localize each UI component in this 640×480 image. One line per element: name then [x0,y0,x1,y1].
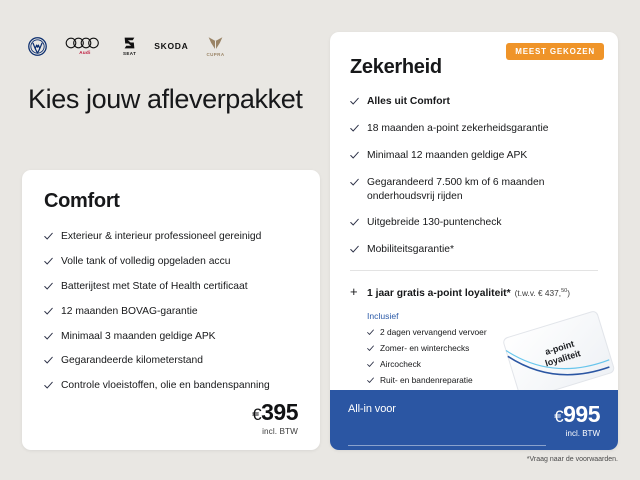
cupra-logo: CUPRA [206,36,224,57]
list-item-label: Alles uit Comfort [367,95,450,109]
audi-logo: Audi [65,37,105,55]
list-item: Mobiliteitsgarantie* [350,243,598,257]
list-item-label: Uitgebreide 130-puntencheck [367,216,502,230]
list-item-label: Batterijtest met State of Health certifi… [61,280,248,294]
bonus-label: 1 jaar gratis a-point loyaliteit* [367,288,511,299]
check-icon [367,377,374,384]
list-item: Gegarandeerd 7.500 km of 6 maanden onder… [350,176,598,204]
check-icon [350,97,359,106]
check-icon [350,218,359,227]
comfort-price: €395 [252,401,298,424]
bonus-row: + 1 jaar gratis a-point loyaliteit*(t.w.… [350,285,598,299]
zekerheid-price: €995 [554,403,600,426]
check-icon [350,124,359,133]
seat-logo-caption: SEAT [123,51,136,56]
check-icon [350,151,359,160]
list-item: Controle vloeistoffen, olie en bandenspa… [44,379,298,393]
list-item-label: 18 maanden a-point zekerheidsgarantie [367,122,548,136]
list-item: Minimaal 12 maanden geldige APK [350,149,598,163]
brand-logo-strip: Audi SEAT SKODA CUPRA [28,32,225,60]
cupra-logo-caption: CUPRA [206,52,224,57]
volkswagen-logo [28,37,47,56]
divider [350,270,598,271]
currency-symbol: € [252,405,261,424]
check-icon [44,282,53,291]
included-block: Inclusief 2 dagen vervangend vervoer Zom… [350,311,598,386]
currency-symbol: € [554,407,563,426]
list-item-label: Zomer- en winterchecks [380,343,469,354]
comfort-price-value: 395 [261,399,298,425]
list-item-label: Mobiliteitsgarantie* [367,243,454,257]
list-item-label: 12 maanden BOVAG-garantie [61,305,198,319]
comfort-title: Comfort [44,190,298,213]
list-item: Volle tank of volledig opgeladen accu [44,255,298,269]
plus-icon: + [350,285,359,298]
list-item: Batterijtest met State of Health certifi… [44,280,298,294]
list-item: Uitgebreide 130-puntencheck [350,216,598,230]
bonus-value-prefix: (t.w.v. € 437, [515,288,561,298]
check-icon [367,345,374,352]
zekerheid-price-footer: All-in voor €995 incl. BTW [330,390,618,450]
package-card-zekerheid[interactable]: MEEST GEKOZEN Zekerheid Alles uit Comfor… [330,32,618,450]
list-item: 12 maanden BOVAG-garantie [44,305,298,319]
comfort-price-block: €395 incl. BTW [252,401,298,436]
zekerheid-price-block: €995 incl. BTW [554,403,600,438]
seat-logo: SEAT [123,36,136,56]
allin-label: All-in voor [348,403,396,415]
zekerheid-price-value: 995 [563,401,600,427]
list-item: Alles uit Comfort [350,95,598,109]
footnote: *Vraag naar de voorwaarden. [527,456,618,463]
check-icon [44,381,53,390]
list-item: Exterieur & interieur professioneel gere… [44,230,298,244]
check-icon [350,245,359,254]
zekerheid-price-note: incl. BTW [554,429,600,438]
list-item-label: Exterieur & interieur professioneel gere… [61,230,261,244]
list-item-label: Volle tank of volledig opgeladen accu [61,255,230,269]
page-title: Kies jouw afleverpakket [28,84,302,115]
list-item-label: Gegarandeerd 7.500 km of 6 maanden onder… [367,176,598,204]
check-icon [44,257,53,266]
check-icon [367,329,374,336]
list-item-label: Minimaal 3 maanden geldige APK [61,330,216,344]
audi-logo-caption: Audi [79,50,91,55]
list-item: Gegarandeerde kilometerstand [44,354,298,368]
check-icon [350,178,359,187]
package-card-comfort[interactable]: Comfort Exterieur & interieur profession… [22,170,320,450]
comfort-price-note: incl. BTW [252,427,298,436]
skoda-logo: SKODA [154,41,188,51]
bonus-value: (t.w.v. € 437,50) [515,288,570,298]
list-item-label: 2 dagen vervangend vervoer [380,327,487,338]
zekerheid-feature-list: Alles uit Comfort 18 maanden a-point zek… [350,95,598,257]
comfort-feature-list: Exterieur & interieur professioneel gere… [44,230,298,393]
bonus-label-wrap: 1 jaar gratis a-point loyaliteit*(t.w.v.… [367,288,570,299]
check-icon [44,332,53,341]
divider [348,445,546,446]
list-item: Minimaal 3 maanden geldige APK [44,330,298,344]
check-icon [44,307,53,316]
skoda-logo-caption: SKODA [154,41,188,51]
check-icon [44,356,53,365]
list-item-label: Aircocheck [380,359,421,370]
list-item: 18 maanden a-point zekerheidsgarantie [350,122,598,136]
check-icon [367,361,374,368]
delivery-package-page: Audi SEAT SKODA CUPRA Kies jouw afleverp… [0,0,640,480]
list-item-label: Controle vloeistoffen, olie en bandenspa… [61,379,270,393]
list-item-label: Minimaal 12 maanden geldige APK [367,149,527,163]
list-item-label: Gegarandeerde kilometerstand [61,354,203,368]
check-icon [44,232,53,241]
status-badge: MEEST GEKOZEN [506,43,604,60]
list-item-label: Ruit- en bandenreparatie [380,375,473,386]
bonus-value-suffix: ) [567,288,570,298]
